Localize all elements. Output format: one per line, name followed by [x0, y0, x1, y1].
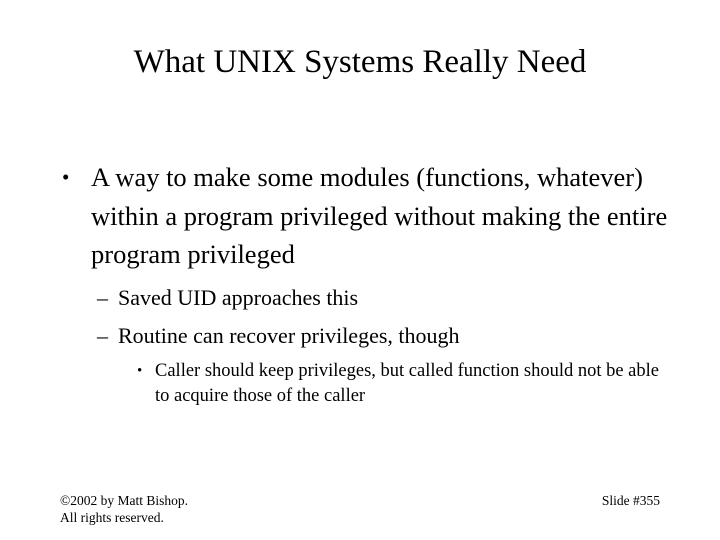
bullet-level2: – Saved UID approaches this	[55, 279, 670, 317]
footer-slide-number: Slide #355	[602, 492, 660, 509]
bullet-dash-icon: –	[97, 279, 108, 317]
footer-copyright-line2: All rights reserved.	[60, 509, 188, 526]
bullet-level2-list: – Saved UID approaches this – Routine ca…	[55, 279, 670, 355]
bullet-dot-icon: •	[62, 158, 69, 197]
bullet-level1: • A way to make some modules (functions,…	[55, 158, 670, 274]
bullet-level3-list: • Caller should keep privileges, but cal…	[55, 359, 670, 410]
bullet-dot-small-icon: •	[137, 359, 142, 385]
bullet-level2: – Routine can recover privileges, though	[55, 317, 670, 355]
slide-body: • A way to make some modules (functions,…	[55, 158, 670, 410]
footer-copyright: ©2002 by Matt Bishop. All rights reserve…	[60, 492, 188, 526]
footer-copyright-line1: ©2002 by Matt Bishop.	[60, 492, 188, 509]
bullet-level2-text: Saved UID approaches this	[118, 285, 358, 310]
page-title: What UNIX Systems Really Need	[60, 42, 660, 83]
bullet-level3: • Caller should keep privileges, but cal…	[55, 359, 670, 410]
bullet-dash-icon: –	[97, 317, 108, 355]
bullet-level2-text: Routine can recover privileges, though	[118, 323, 460, 348]
bullet-level1-text: A way to make some modules (functions, w…	[91, 158, 670, 274]
presentation-slide: What UNIX Systems Really Need • A way to…	[0, 0, 720, 540]
bullet-level3-text: Caller should keep privileges, but calle…	[155, 361, 659, 407]
